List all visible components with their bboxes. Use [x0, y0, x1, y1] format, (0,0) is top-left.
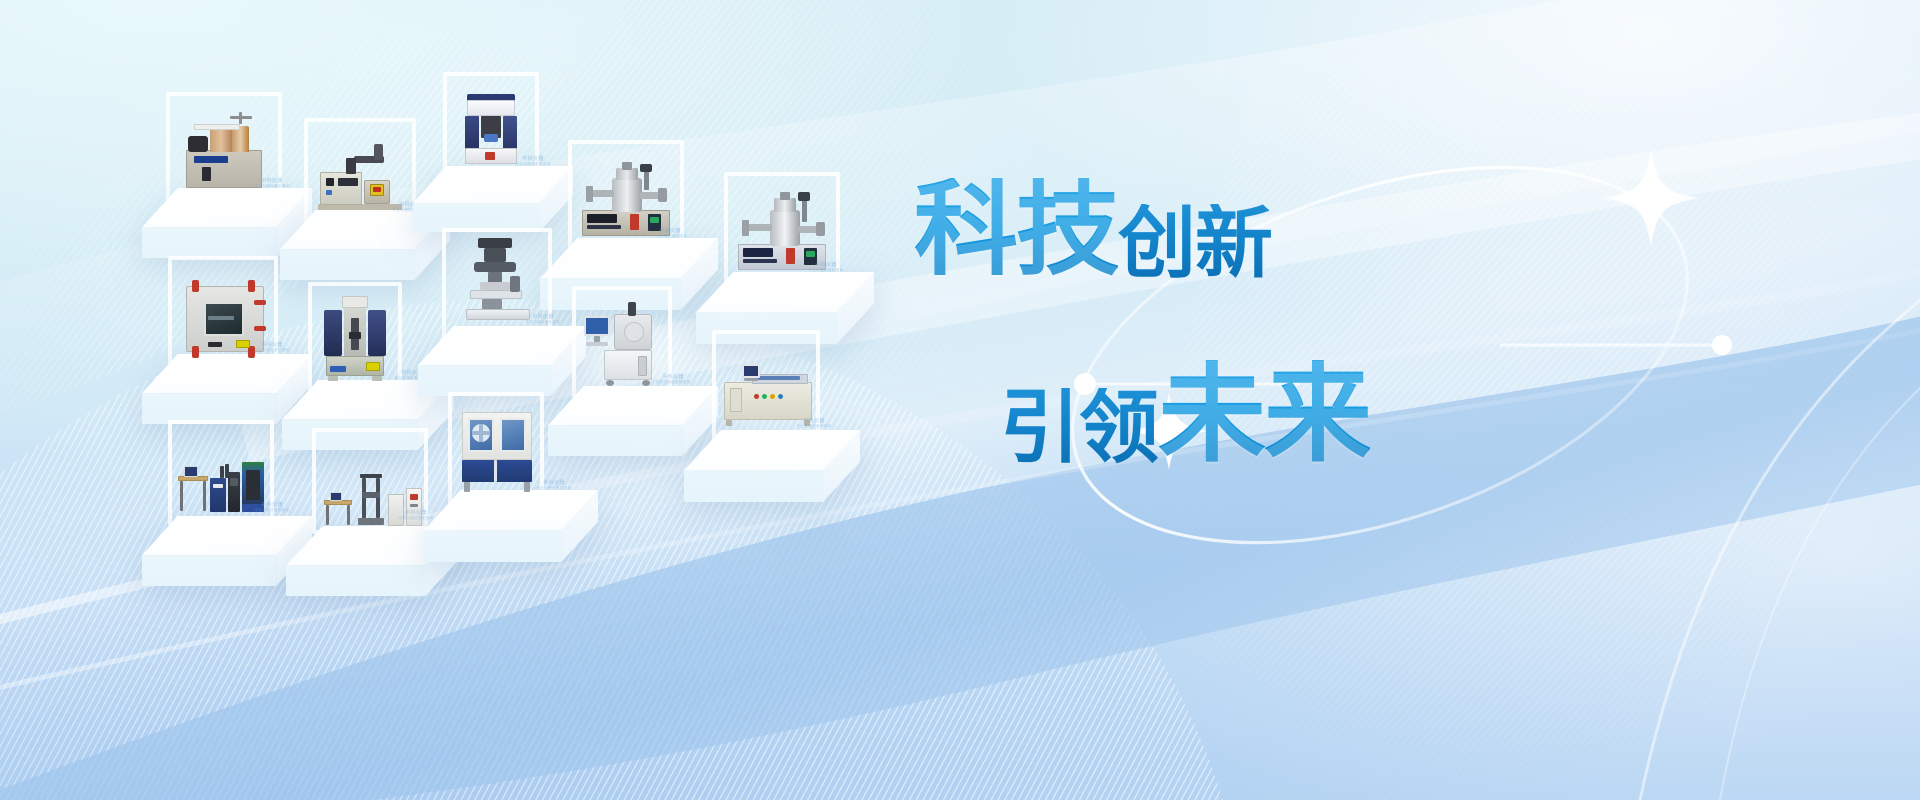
tile-pedestal — [684, 430, 860, 502]
product-watermark: 中科仪器专业仪器设备制造商 — [808, 262, 843, 273]
hero-banner: 中科仪器专业仪器设备制造商 中科仪器专业仪器设备制造商 — [0, 0, 1920, 800]
tile-pedestal — [424, 490, 598, 562]
headline-line-1: 科技 创新 — [914, 178, 1272, 282]
product-watermark: 中科仪器专业仪器设备制造商 — [796, 418, 831, 429]
headline-line1-emphasis: 科技 — [914, 178, 1118, 282]
headline-line2-emphasis: 未来 — [1158, 360, 1370, 468]
headline-line-2: 引领 未来 — [1000, 360, 1370, 468]
headline-line1-secondary: 创新 — [1118, 204, 1272, 282]
product-watermark: 中科仪器专业仪器设备制造商 — [254, 502, 289, 513]
product-tile-environmental-test-cabinet[interactable]: 中科仪器专业仪器设备制造商 — [424, 392, 684, 592]
headline-line2-secondary: 引领 — [1000, 388, 1158, 468]
product-image-environmental-test-cabinet — [458, 406, 536, 494]
product-image-dual-column-press — [320, 296, 392, 384]
product-watermark: 中科仪器专业仪器设备制造商 — [536, 480, 571, 491]
headline-block: 科技 创新 引领 未来 — [900, 170, 1800, 590]
